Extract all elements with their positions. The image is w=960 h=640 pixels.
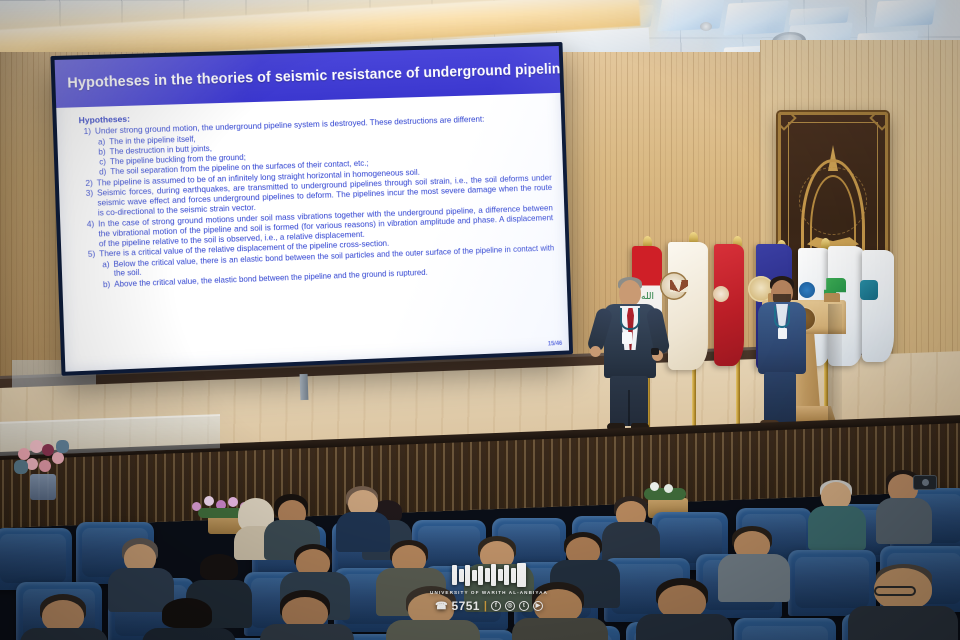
item-number: b)	[80, 147, 110, 158]
twitter-icon[interactable]: t	[519, 601, 529, 611]
attendee	[114, 538, 170, 602]
presenter-leg-split	[628, 390, 630, 426]
item-number: 3)	[81, 189, 98, 219]
attendee-body	[808, 506, 866, 550]
podium-person-badge	[778, 328, 787, 339]
eyeglasses-icon	[874, 586, 916, 596]
item-number: c)	[80, 157, 110, 168]
flag-crest-fan	[670, 280, 688, 292]
instagram-icon[interactable]: ◎	[505, 601, 515, 611]
presentation-slide: Hypotheses in the theories of seismic re…	[55, 46, 570, 372]
smoke-detector-icon	[700, 22, 712, 31]
phone-icon: ☎	[435, 601, 447, 612]
attendee-body	[20, 628, 108, 640]
flower	[30, 440, 43, 453]
attendee-hair	[162, 598, 212, 628]
item-number: a)	[84, 260, 115, 280]
slide-page-number: 15/46	[548, 341, 563, 347]
ceiling-light-panel	[723, 0, 789, 35]
logo-glyph	[517, 563, 526, 587]
watermark: UNIVERSITY OF WARITH AL-ANBIYAA ☎ 5751 |…	[430, 562, 548, 613]
projection-screen[interactable]: Hypotheses in the theories of seismic re…	[50, 42, 573, 376]
institution-name: UNIVERSITY OF WARITH AL-ANBIYAA	[430, 590, 548, 595]
flag-ministry-of-higher-education	[668, 242, 708, 370]
foliage	[56, 440, 69, 453]
podium-side-shadow	[828, 304, 842, 422]
logo-glyph	[511, 568, 516, 583]
item-number: 1)	[79, 127, 95, 137]
podium-person-lanyard	[774, 306, 790, 328]
attendee-hair	[200, 554, 238, 580]
facebook-icon[interactable]: f	[491, 601, 501, 611]
standing-presenter	[596, 278, 666, 434]
logo-glyph	[478, 566, 483, 585]
attendee	[270, 590, 344, 640]
logo-glyph	[491, 564, 496, 586]
flag-white-teal-logo	[862, 250, 894, 362]
attendee-body	[386, 620, 480, 640]
emblem-ring	[799, 167, 867, 235]
panel-corner-ornament	[869, 112, 888, 131]
presenter-lanyard	[620, 308, 640, 330]
attendee-body	[512, 618, 608, 640]
attendee-standing-photographer	[878, 470, 934, 544]
presenter-left-hand	[590, 346, 601, 357]
slide-body: Hypotheses: 1) Under strong ground motio…	[56, 93, 566, 298]
attendee-body	[718, 554, 790, 602]
phone-number: 5751	[452, 599, 480, 613]
logo-glyph	[465, 565, 470, 586]
auditorium-photo: ولاية Hypotheses in the theories of seis…	[0, 0, 960, 640]
attendee-body	[848, 606, 958, 640]
attendee-body	[260, 624, 354, 640]
watermark-divider: |	[484, 600, 487, 612]
logo-glyph	[504, 565, 509, 585]
chair[interactable]	[734, 618, 836, 640]
slide-title: Hypotheses in the theories of seismic re…	[55, 61, 569, 92]
flag-teal-logo-icon	[860, 280, 878, 300]
screen-stand	[300, 374, 309, 400]
attendee	[646, 578, 722, 640]
attendee-body	[142, 628, 236, 640]
logo-glyph	[485, 568, 490, 582]
podium-person-legs	[764, 372, 796, 424]
attendee	[340, 486, 386, 544]
presenter-head	[619, 280, 641, 306]
watermark-contact: ☎ 5751 | f ◎ t ▶	[430, 599, 548, 613]
attendee-body	[876, 498, 932, 544]
item-number: 4)	[82, 219, 99, 249]
attendee-body	[636, 614, 732, 640]
person-at-podium	[752, 276, 812, 432]
attendee	[30, 594, 100, 640]
flag-red	[714, 244, 744, 366]
camera-lens-icon	[922, 479, 929, 486]
attendee	[724, 526, 784, 592]
presenter-clicker[interactable]	[651, 348, 659, 355]
ceiling-light-panel	[657, 0, 725, 32]
item-number: b)	[84, 280, 114, 291]
chair[interactable]	[0, 528, 72, 590]
audience-seating	[0, 470, 960, 640]
ceiling-light-panel	[874, 0, 937, 27]
item-number: 5)	[83, 250, 99, 261]
attendee	[152, 598, 226, 640]
panel-corner-ornament	[778, 112, 797, 131]
ceiling-light-panel	[788, 6, 849, 25]
logo-glyph	[452, 565, 457, 585]
youtube-icon[interactable]: ▶	[533, 601, 543, 611]
presenter-badge	[622, 332, 632, 344]
item-number: a)	[79, 137, 109, 148]
attendee	[812, 480, 864, 544]
logo-glyph	[498, 569, 503, 581]
flower	[52, 452, 64, 464]
screen-bezel: Hypotheses in the theories of seismic re…	[50, 42, 573, 376]
attendee-with-glasses	[862, 564, 952, 640]
logo-glyph	[472, 570, 477, 581]
university-of-warith-al-anbiyaa-logo	[430, 562, 548, 588]
flag-red-emblem-icon	[713, 286, 729, 302]
logo-glyph	[459, 569, 464, 582]
